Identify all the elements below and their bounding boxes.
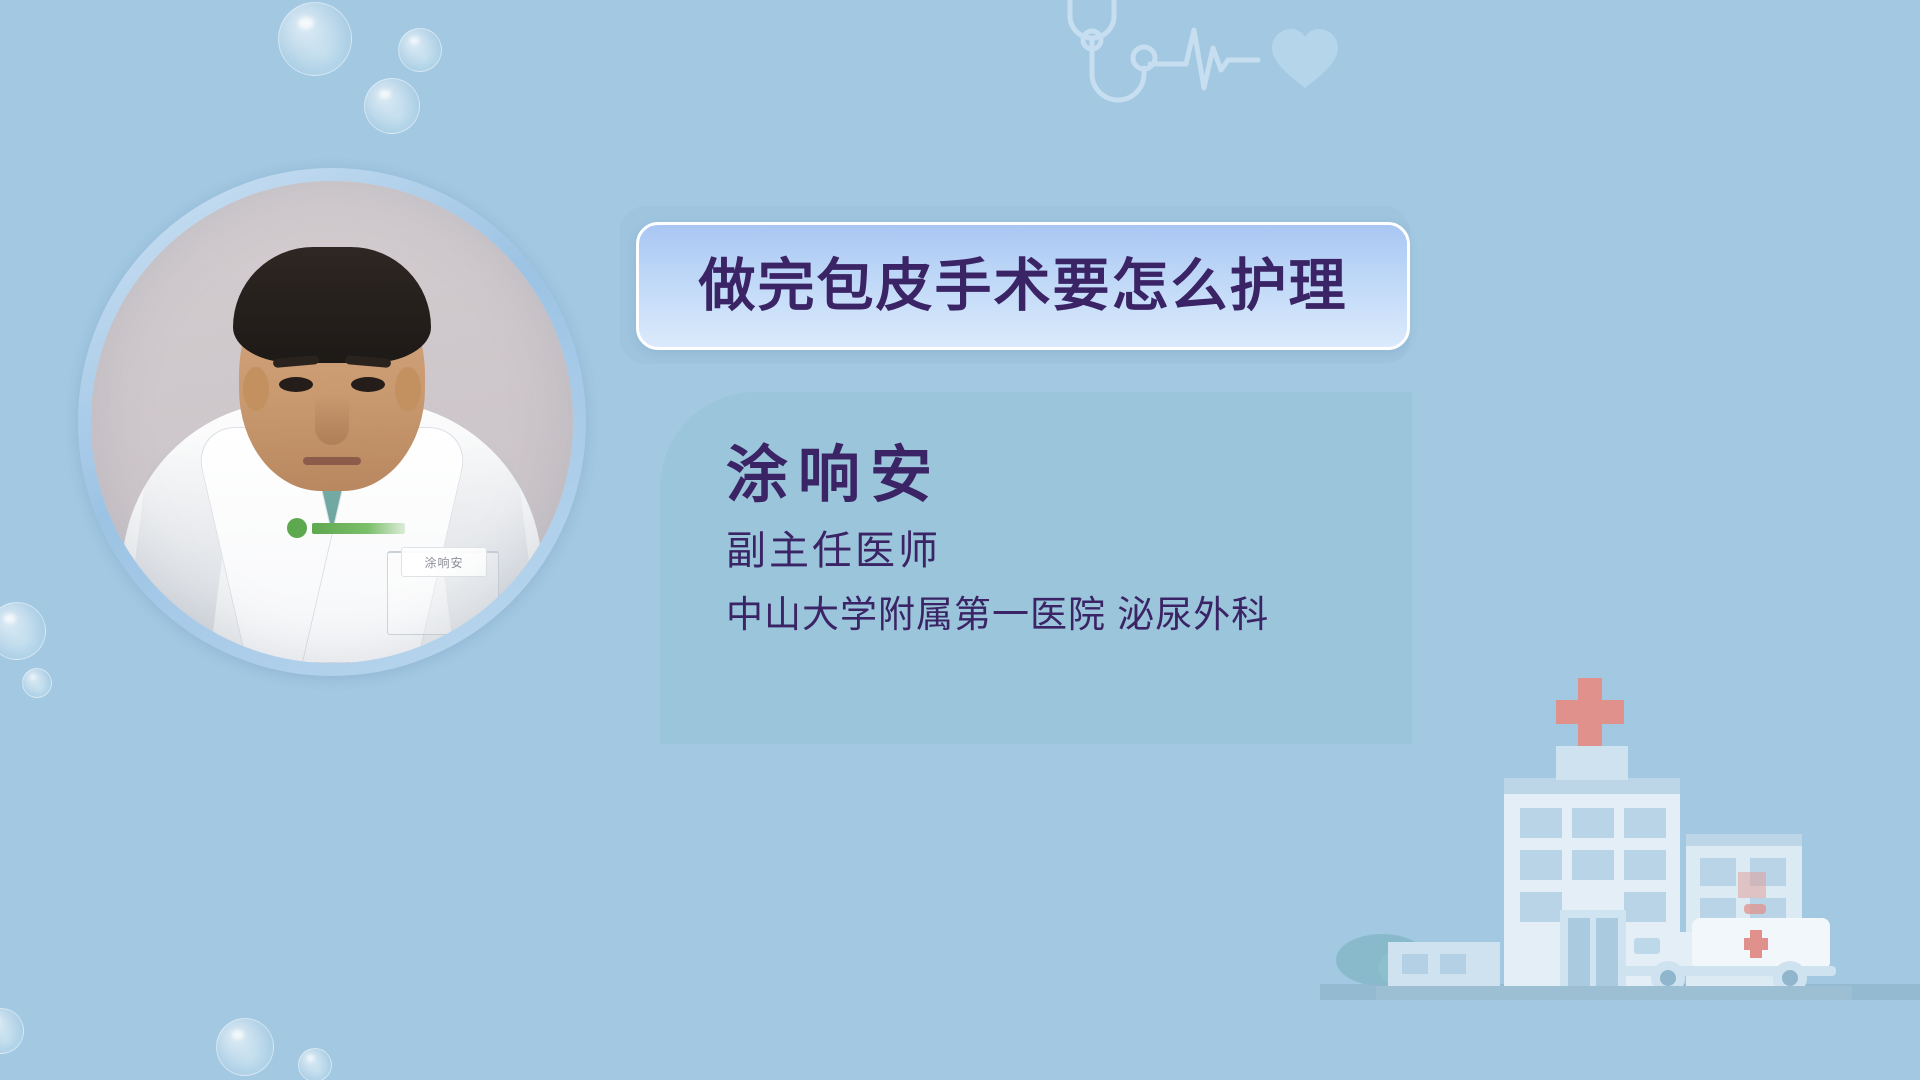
portrait-ring: 涂响安 — [78, 168, 586, 676]
ambulance-illustration — [1620, 904, 1836, 995]
bubble-icon — [216, 1018, 274, 1076]
bubble-icon — [22, 668, 52, 698]
bubble-icon — [0, 1008, 24, 1054]
bubble-icon — [298, 1048, 332, 1080]
doctor-rank-title: 副主任医师 — [726, 525, 1426, 577]
bubble-icon — [0, 602, 46, 660]
coat-name-badge: 涂响安 — [401, 547, 487, 577]
portrait-image: 涂响安 — [91, 181, 573, 663]
doctor-affiliation: 中山大学附属第一医院 泌尿外科 — [726, 591, 1426, 639]
doctor-name: 涂响安 — [726, 440, 1426, 511]
medical-cross-icon — [1556, 678, 1624, 746]
bubble-icon — [398, 28, 442, 72]
coat-name-badge-text: 涂响安 — [424, 554, 463, 571]
page-title: 做完包皮手术要怎么护理 — [699, 258, 1348, 315]
medical-line-decor — [1040, 0, 1360, 146]
doctor-intro-card: 涂响安 做完包皮手术要怎么护理 涂响安 副主任医师 中山大学附属第一医院 泌尿外… — [0, 0, 1920, 1080]
bubble-icon — [278, 2, 352, 76]
title-card: 做完包皮手术要怎么护理 — [636, 222, 1410, 350]
bubble-icon — [364, 78, 420, 134]
doctor-info-text: 涂响安 副主任医师 中山大学附属第一医院 泌尿外科 — [726, 440, 1426, 639]
coat-logo — [287, 517, 405, 539]
doctor-portrait: 涂响安 — [78, 168, 586, 676]
